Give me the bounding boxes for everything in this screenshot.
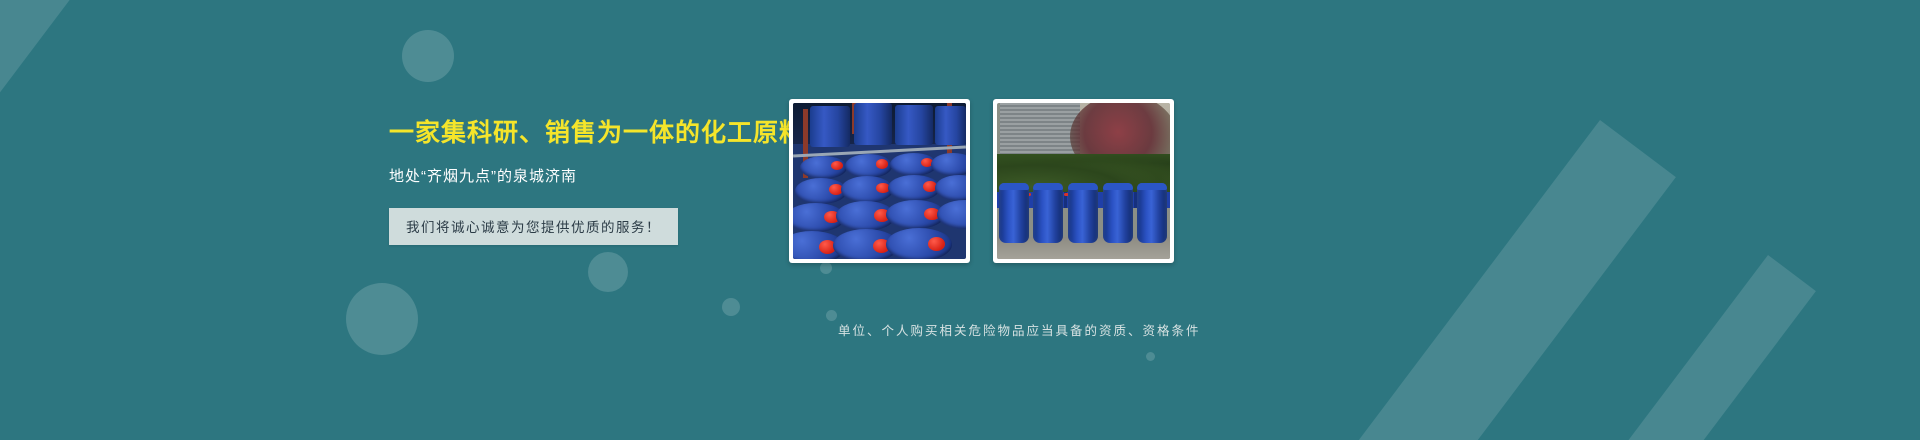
blue-chemical-drums-stacked-image [793, 103, 966, 259]
service-promise-button[interactable]: 我们将诚心诚意为您提供优质的服务！ [389, 208, 678, 245]
decor-circle-1 [402, 30, 454, 82]
blue-chemical-drums-outdoor-image [997, 103, 1170, 259]
product-photo-card-1[interactable] [789, 99, 970, 263]
diagonal-stripe-bottom-right [1287, 120, 1676, 440]
hero-headline: 一家集科研、销售为一体的化工原料公司 [389, 118, 789, 149]
product-photo-card-2[interactable] [993, 99, 1174, 263]
diagonal-stripe-bottom-right-small [1587, 255, 1815, 440]
hero-copy-block: 一家集科研、销售为一体的化工原料公司 地处“齐烟九点”的泉城济南 我们将诚心诚意… [389, 118, 789, 245]
hero-subheadline: 地处“齐烟九点”的泉城济南 [389, 165, 789, 186]
safety-notice-caption: 单位、个人购买相关危险物品应当具备的资质、资格条件 [838, 320, 1201, 339]
decor-circle-3 [588, 252, 628, 292]
hero-banner: 一家集科研、销售为一体的化工原料公司 地处“齐烟九点”的泉城济南 我们将诚心诚意… [0, 0, 1920, 440]
decor-circle-5 [820, 262, 832, 274]
decor-circle-2 [346, 283, 418, 355]
decor-circle-7 [1146, 352, 1155, 361]
decor-circle-6 [826, 310, 837, 321]
diagonal-stripe-top-left [0, 0, 154, 335]
decor-circle-4 [722, 298, 740, 316]
